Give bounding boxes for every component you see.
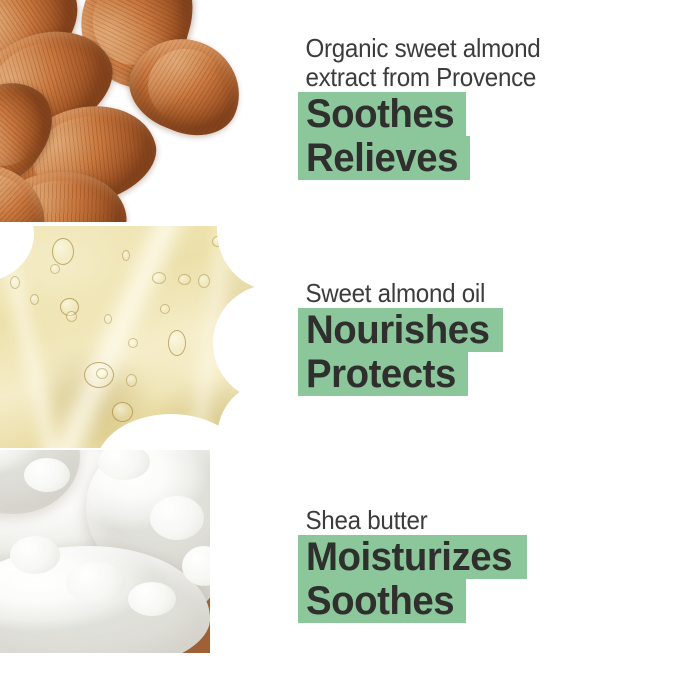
oil-bubble	[168, 330, 186, 356]
benefit-text: Moisturizes	[306, 535, 512, 579]
butter-lump	[24, 458, 70, 492]
oil-bubble	[198, 274, 210, 288]
oil-bubble	[112, 402, 133, 422]
shea-butter-photo-panel	[0, 450, 290, 679]
benefit-line-2: Soothes	[298, 579, 466, 623]
benefit-text: Protects	[306, 352, 456, 396]
benefit-line-1: Soothes	[298, 92, 466, 136]
oil-bubble	[178, 274, 191, 285]
oil-bubble	[10, 276, 20, 289]
benefit-line-1: Moisturizes	[298, 535, 527, 579]
oil-bubble	[96, 368, 108, 379]
oil-bubble	[50, 264, 60, 274]
benefit-highlight-group: Soothes Relieves	[298, 92, 559, 180]
caption-line-1: Shea butter	[298, 506, 511, 535]
oil-bubble	[104, 314, 112, 324]
oil-bubble	[30, 294, 39, 305]
shea-edge-cutout	[210, 450, 290, 679]
oil-bubble	[128, 338, 138, 348]
benefit-line-1: Nourishes	[298, 308, 503, 352]
benefit-text: Nourishes	[306, 308, 489, 352]
oil-bubble	[152, 272, 166, 284]
butter-lump	[128, 582, 176, 616]
benefit-block-shea-butter: Shea butter Moisturizes Soothes	[298, 506, 527, 623]
caption-line-2: extract from Provence	[298, 63, 540, 92]
oil-bubble	[126, 374, 137, 387]
benefit-highlight-group: Moisturizes Soothes	[298, 535, 527, 623]
benefit-block-almond-extract: Organic sweet almond extract from Proven…	[298, 34, 559, 180]
benefit-text: Relieves	[306, 136, 458, 180]
butter-lump	[150, 496, 204, 540]
butter-lump	[10, 536, 60, 574]
almond-oil-photo-panel	[0, 226, 281, 448]
benefit-block-almond-oil: Sweet almond oil Nourishes Protects	[298, 279, 503, 396]
butter-lump	[66, 562, 126, 604]
infographic-page: Organic sweet almond extract from Proven…	[0, 0, 679, 679]
oil-bubble	[66, 311, 77, 322]
oil-bubble	[122, 250, 130, 261]
almond-photo-panel	[0, 0, 283, 222]
benefit-text: Soothes	[306, 579, 454, 623]
benefit-highlight-group: Nourishes Protects	[298, 308, 503, 396]
benefit-line-2: Protects	[298, 352, 468, 396]
caption-line-1: Sweet almond oil	[298, 279, 489, 308]
caption-line-1: Organic sweet almond	[298, 34, 540, 63]
shea-edge-cutout	[0, 653, 290, 679]
oil-bubble	[160, 304, 170, 314]
oil-bubble	[52, 238, 74, 265]
benefit-line-2: Relieves	[298, 136, 470, 180]
benefit-text: Soothes	[306, 92, 454, 136]
